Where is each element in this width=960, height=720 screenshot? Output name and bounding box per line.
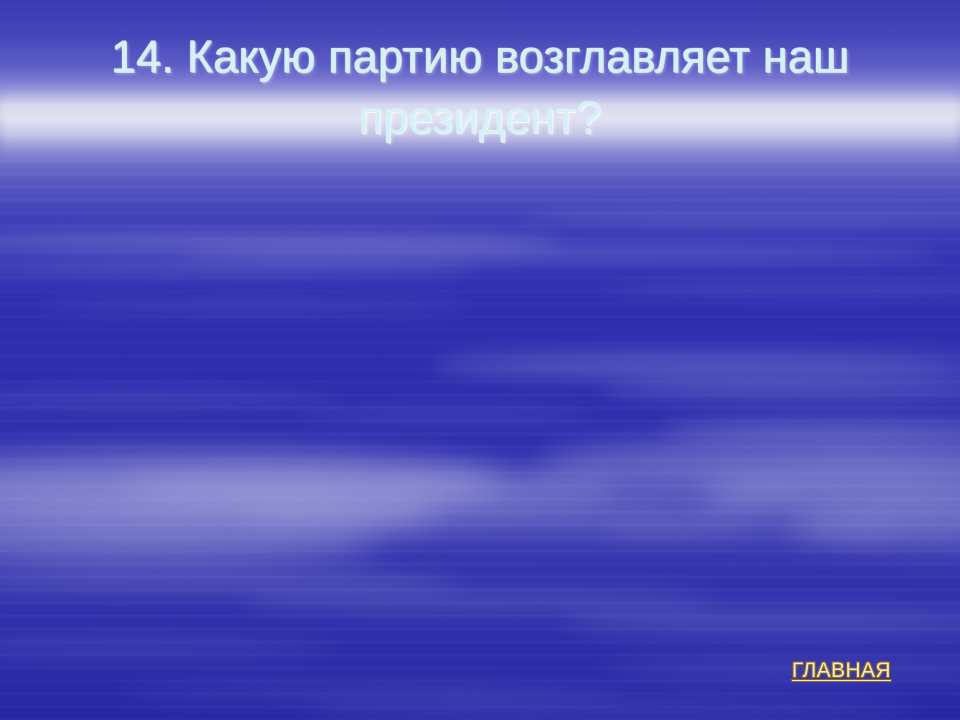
water-ripple-texture [0,0,960,720]
home-link[interactable]: ГЛАВНАЯ [792,659,891,683]
presentation-slide: 14. Какую партию возглавляет наш президе… [0,0,960,720]
